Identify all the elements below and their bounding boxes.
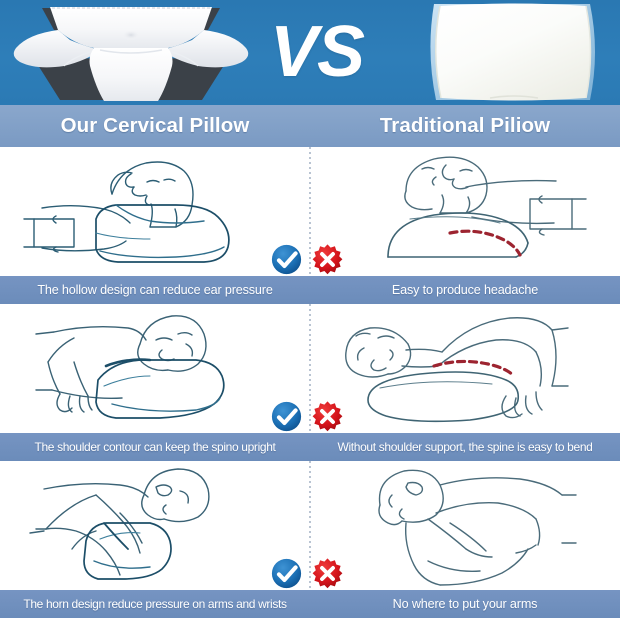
row-captions: The shoulder contour can keep the spino … [0, 433, 620, 461]
caption-ours-ear-pressure: The hollow design can reduce ear pressur… [0, 276, 310, 304]
caption-ours-arm-pressure: The horn design reduce pressure on arms … [0, 590, 310, 618]
illustration-side-sleep-shoulder-support [0, 304, 310, 433]
column-divider [309, 461, 311, 590]
traditional-pillow-product-image [418, 0, 608, 105]
illustration-back-sleep-cervical-pillow [0, 147, 310, 276]
comparison-row-shoulder-contour: The shoulder contour can keep the spino … [0, 304, 620, 461]
row-captions: The hollow design can reduce ear pressur… [0, 276, 620, 304]
panel-ours-shoulder-contour [0, 304, 310, 433]
neck-gap-indicator [450, 231, 520, 255]
panel-traditional-no-arm-space [310, 461, 620, 590]
panel-traditional-spine-bend [310, 304, 620, 433]
cervical-pillow-product-image [8, 0, 254, 105]
comparison-rows: The hollow design can reduce ear pressur… [0, 147, 620, 618]
illustration-arms-cramped-no-space [310, 461, 620, 590]
illustration-arms-resting-in-horn-cutout [0, 461, 310, 590]
column-title-ours: Our Cervical Pillow [0, 105, 310, 147]
column-title-traditional: Traditional Piliow [310, 105, 620, 147]
panel-traditional-headache [310, 147, 620, 276]
panel-ours-arm-pressure [0, 461, 310, 590]
row-illustrations [0, 461, 620, 590]
column-divider [309, 304, 311, 433]
comparison-row-arm-pressure: The horn design reduce pressure on arms … [0, 461, 620, 618]
caption-traditional-headache: Easy to produce headache [310, 276, 620, 304]
illustration-back-sleep-flat-pillow-neck-gap [310, 147, 620, 276]
row-illustrations [0, 304, 620, 433]
caption-traditional-spine-bend: Without shoulder support, the spine is e… [310, 433, 620, 461]
spine-bend-indicator [434, 361, 514, 376]
row-captions: The horn design reduce pressure on arms … [0, 590, 620, 618]
row-illustrations [0, 147, 620, 276]
hero-banner: VS [0, 0, 620, 105]
caption-traditional-no-arm-space: No where to put your arms [310, 590, 620, 618]
panel-ours-ear-pressure [0, 147, 310, 276]
pillow-comparison-infographic: VS [0, 0, 620, 620]
caption-ours-shoulder-contour: The shoulder contour can keep the spino … [0, 433, 310, 461]
column-divider [309, 147, 311, 276]
vs-label: VS [262, 4, 372, 100]
illustration-side-sleep-spine-bent [310, 304, 620, 433]
comparison-row-ear-pressure: The hollow design can reduce ear pressur… [0, 147, 620, 304]
column-titles-bar: Our Cervical Pillow Traditional Piliow [0, 105, 620, 147]
